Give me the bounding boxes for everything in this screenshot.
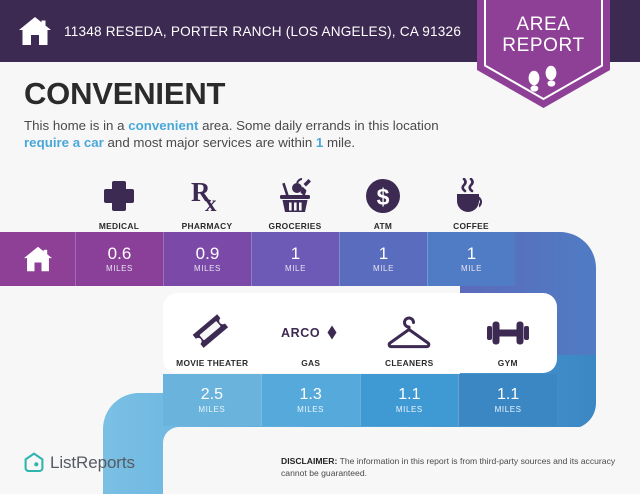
category-label: GYM (498, 358, 518, 368)
distance-value: 1.1 (497, 387, 519, 403)
category-cleaners: CLEANERS (360, 300, 459, 368)
area-report-badge: AREA REPORT (477, 0, 610, 108)
distance-cell-coffee: 1 MILE (427, 232, 515, 286)
distance-unit: MILES (194, 264, 221, 273)
desc-part-3: and most major services are within (104, 135, 316, 150)
svg-text:$: $ (377, 184, 390, 210)
distance-unit: MILE (285, 264, 306, 273)
desc-part-2: area. Some daily errands in this locatio… (198, 118, 438, 133)
distance-value: 0.6 (108, 245, 132, 262)
svg-text:ARCO: ARCO (281, 326, 320, 340)
distance-value: 0.9 (196, 245, 220, 262)
category-medical: MEDICAL (75, 165, 163, 231)
dollar-circle-icon: $ (365, 175, 401, 217)
category-atm: $ ATM (339, 165, 427, 231)
distance-value: 1.3 (300, 387, 322, 403)
category-coffee: COFFEE (427, 165, 515, 231)
badge-line-2: REPORT (477, 35, 610, 56)
page-title: CONVENIENT (24, 76, 225, 112)
page-description: This home is in a convenient area. Some … (24, 117, 454, 151)
distance-value: 1.1 (398, 387, 420, 403)
distance-unit: MILES (106, 264, 133, 273)
movie-ticket-icon (192, 312, 232, 354)
house-icon (18, 15, 52, 47)
distance-value: 1 (467, 245, 476, 262)
distance-unit: MILES (495, 405, 522, 414)
desc-part-1: This home is in a (24, 118, 128, 133)
hanger-icon (386, 312, 432, 354)
grocery-basket-icon (276, 175, 314, 217)
distance-unit: MILES (396, 405, 423, 414)
desc-highlight-convenient: convenient (128, 118, 198, 133)
house-icon (23, 245, 53, 273)
category-gas: ARCO GAS (262, 300, 361, 368)
coffee-cup-icon (452, 175, 490, 217)
distance-cell-groceries: 1 MILE (251, 232, 339, 286)
category-label: GAS (301, 358, 320, 368)
distance-cell-atm: 1 MILE (339, 232, 427, 286)
area-report-infographic: 11348 RESEDA, PORTER RANCH (LOS ANGELES)… (0, 0, 640, 494)
distance-cell-gym: 1.1 MILES (458, 374, 557, 426)
distance-cell-movie-theater: 2.5 MILES (163, 374, 261, 426)
category-pharmacy: R x PHARMACY (163, 165, 251, 231)
category-label: MOVIE THEATER (176, 358, 248, 368)
svg-text:x: x (205, 191, 217, 214)
badge-text: AREA REPORT (477, 14, 610, 56)
category-movie-theater: MOVIE THEATER (163, 300, 262, 368)
listreports-logo-icon (24, 452, 44, 473)
distance-cell-medical: 0.6 MILES (75, 232, 163, 286)
category-label: MEDICAL (99, 221, 139, 231)
distance-cell-cleaners: 1.1 MILES (360, 374, 459, 426)
disclaimer-label: DISCLAIMER: (281, 456, 337, 466)
home-marker-cell (0, 232, 75, 286)
row1-distance-bar: 0.6 MILES 0.9 MILES 1 MILE 1 MILE 1 MILE (0, 232, 560, 286)
logo-text: ListReports (50, 453, 135, 473)
category-label: CLEANERS (385, 358, 433, 368)
medical-cross-icon (102, 175, 136, 217)
category-label: GROCERIES (269, 221, 322, 231)
distance-unit: MILE (373, 264, 394, 273)
row1-icon-spacer (0, 165, 75, 231)
distance-unit: MILE (461, 264, 482, 273)
category-gym: GYM (459, 300, 558, 368)
category-label: ATM (374, 221, 392, 231)
distance-cell-pharmacy: 0.9 MILES (163, 232, 251, 286)
badge-line-1: AREA (477, 14, 610, 35)
row1-icon-strip: MEDICAL R x PHARMACY (0, 165, 560, 231)
disclaimer: DISCLAIMER: The information in this repo… (281, 456, 619, 479)
desc-part-4: mile. (323, 135, 355, 150)
arco-gas-icon: ARCO (280, 312, 342, 354)
header-address: 11348 RESEDA, PORTER RANCH (LOS ANGELES)… (64, 24, 461, 39)
category-label: COFFEE (453, 221, 489, 231)
rx-icon: R x (190, 175, 224, 217)
row2-distance-bar: 2.5 MILES 1.3 MILES 1.1 MILES 1.1 MILES (163, 374, 557, 426)
dumbbell-icon (486, 312, 530, 354)
distance-value: 2.5 (201, 387, 223, 403)
distance-cell-gas: 1.3 MILES (261, 374, 360, 426)
distance-value: 1 (379, 245, 388, 262)
distance-unit: MILES (198, 405, 225, 414)
listreports-logo: ListReports (24, 452, 135, 473)
distance-unit: MILES (297, 405, 324, 414)
category-groceries: GROCERIES (251, 165, 339, 231)
distance-value: 1 (291, 245, 300, 262)
header-content: 11348 RESEDA, PORTER RANCH (LOS ANGELES)… (0, 0, 470, 62)
category-label: PHARMACY (182, 221, 233, 231)
desc-highlight-require-a-car: require a car (24, 135, 104, 150)
row2-icon-strip: MOVIE THEATER ARCO GAS CLEANERS (163, 300, 557, 368)
